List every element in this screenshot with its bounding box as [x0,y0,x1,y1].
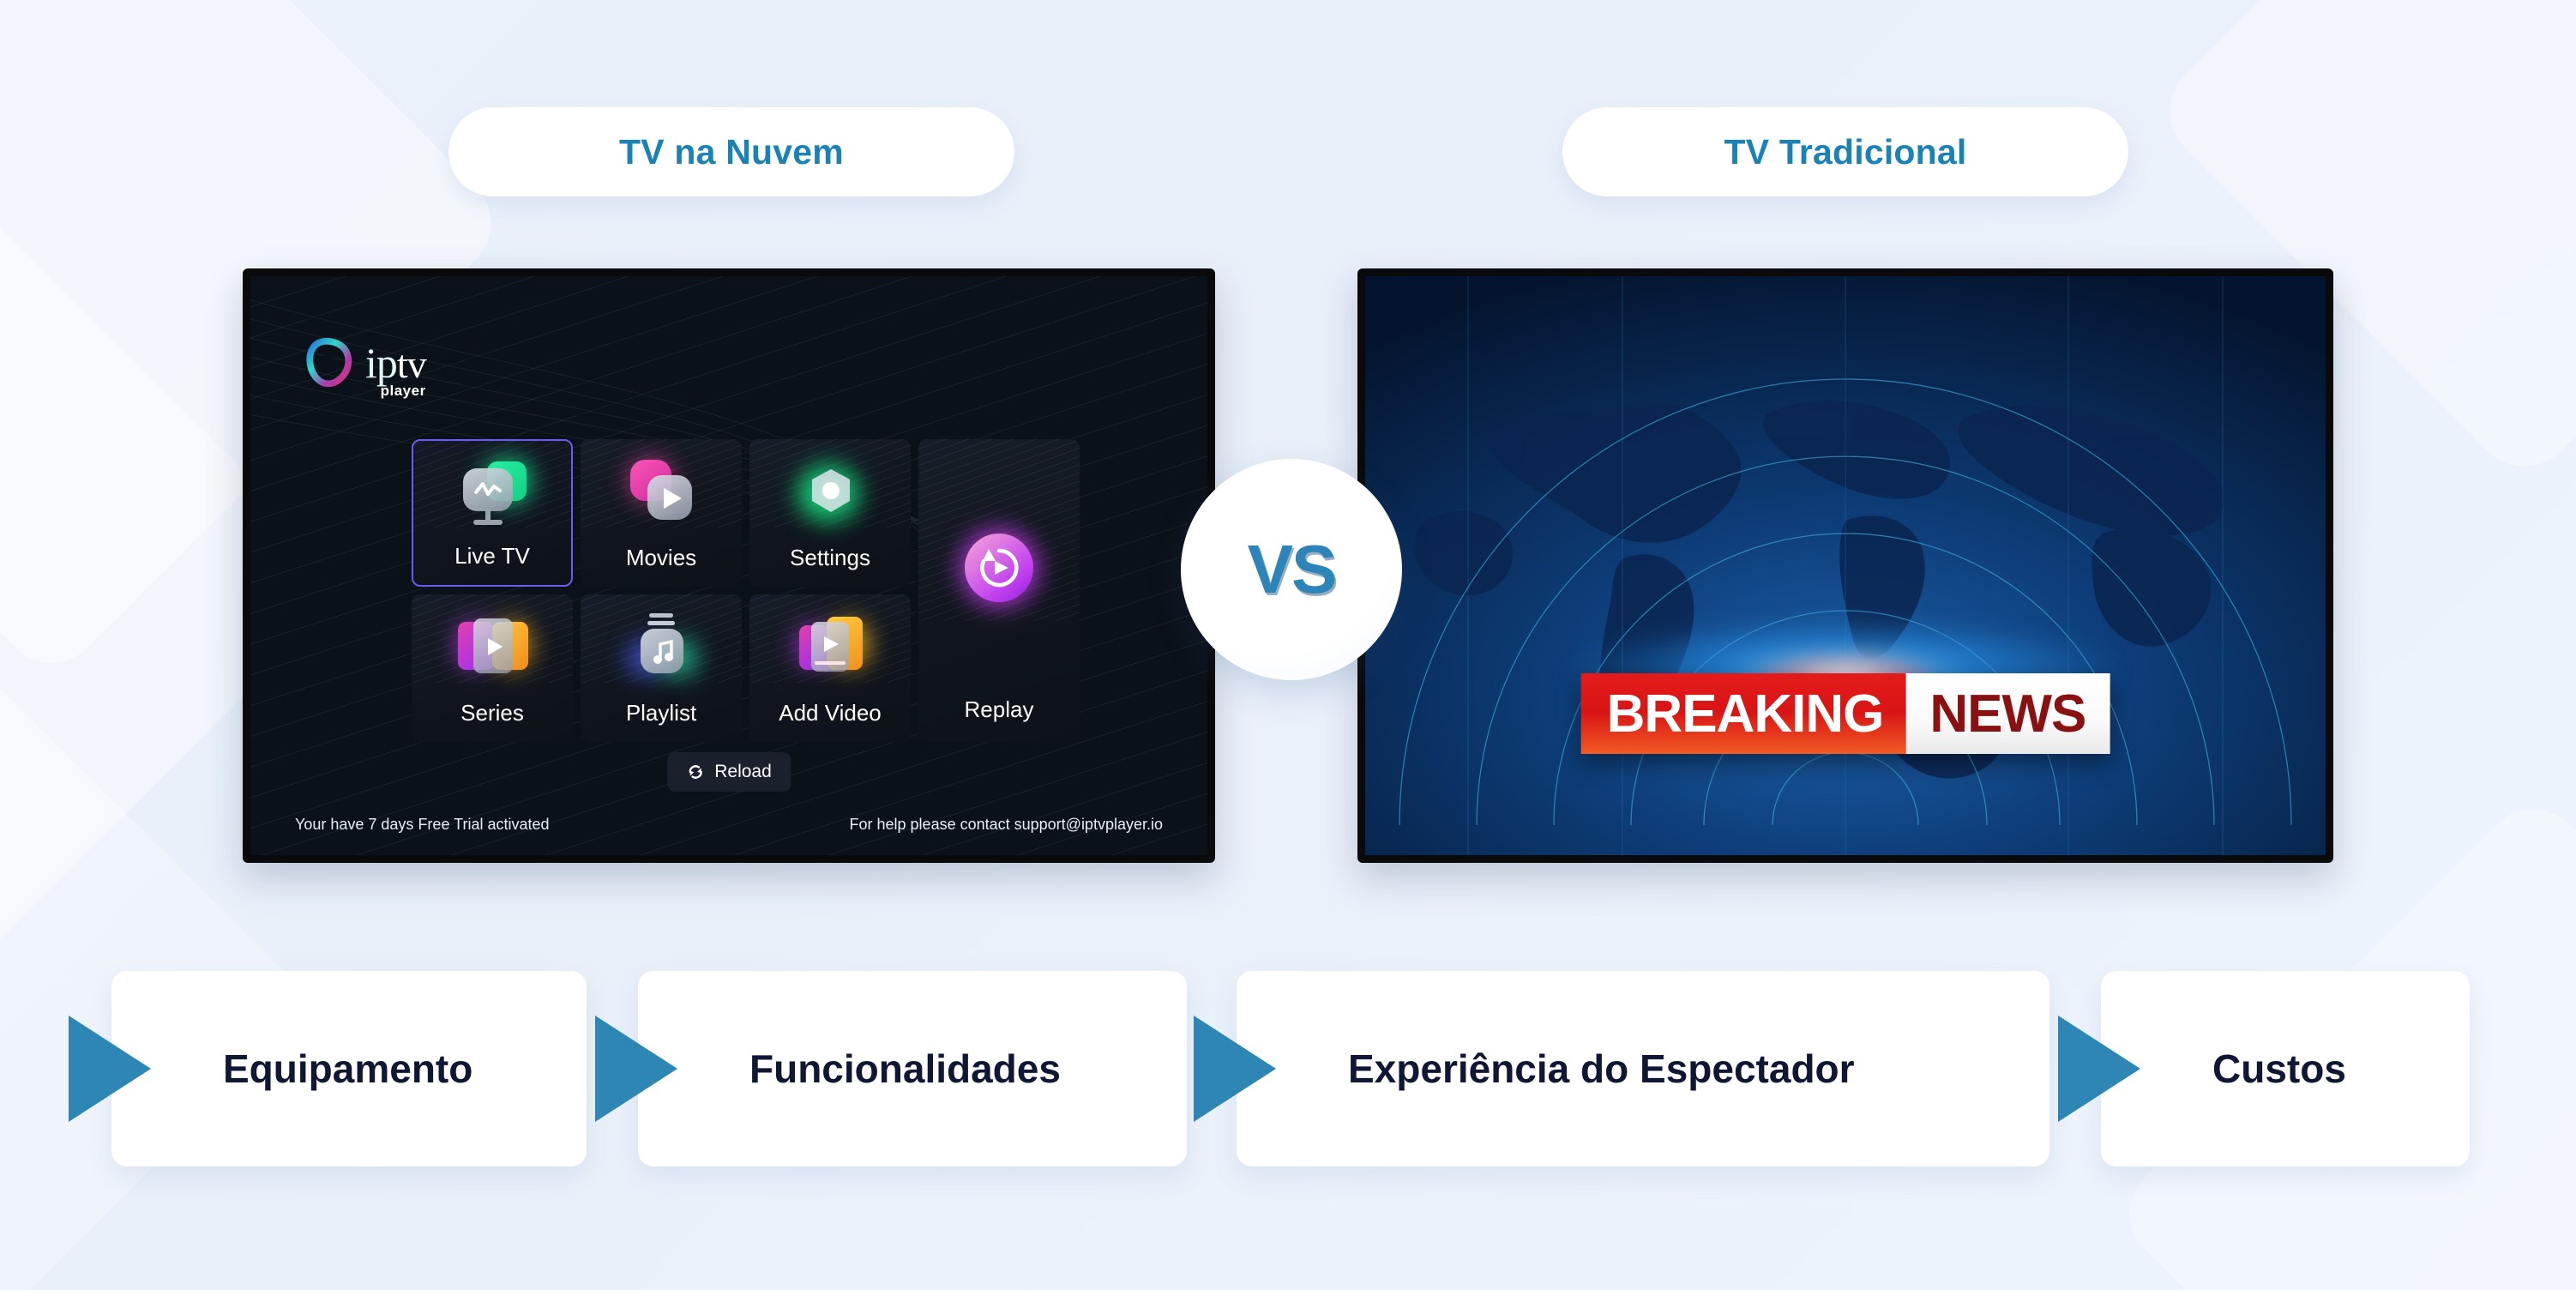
pill-tv-tradicional: TV Tradicional [1562,107,2128,196]
feature-card-label: Experiência do Espectador [1348,1046,1855,1092]
tile-settings[interactable]: Settings [749,439,911,587]
tile-series[interactable]: Series [412,594,573,742]
tile-label: Playlist [626,700,696,726]
add-video-icon [749,594,911,700]
feature-card-equipamento[interactable]: Equipamento [111,971,587,1166]
logo-player-text: player [381,383,426,398]
tile-replay[interactable]: Replay [918,439,1080,742]
banner-breaking-text: BREAKING [1581,673,1906,754]
play-triangle-logo-icon [304,336,357,389]
tile-label: Add Video [779,700,882,726]
replay-icon [918,439,1080,696]
arrow-right-icon [69,1016,151,1122]
feature-card-experiencia-do-espectador[interactable]: Experiência do Espectador [1237,971,2049,1166]
playlist-icon [581,594,742,700]
tile-live-tv[interactable]: Live TV [412,439,573,587]
pill-label: TV na Nuvem [619,132,844,172]
vs-badge: VS [1181,459,1402,680]
iptv-app-screen: iptv player [250,276,1207,855]
tile-movies[interactable]: Movies [581,439,742,587]
feature-card-label: Funcionalidades [749,1046,1061,1092]
tile-label: Replay [965,696,1034,723]
feature-card-label: Custos [2212,1046,2346,1092]
feature-card-custos[interactable]: Custos [2101,971,2470,1166]
comparison-infographic: TV na Nuvem TV Tradicional [0,0,2576,1290]
feature-card-funcionalidades[interactable]: Funcionalidades [638,971,1187,1166]
app-menu-grid: Live TV Movies [412,439,1080,742]
logo-tv-text: tv [397,342,426,386]
tile-label: Movies [626,545,696,571]
tile-add-video[interactable]: Add Video [749,594,911,742]
tile-label: Series [460,700,524,726]
tile-label: Live TV [454,543,530,570]
banner-news-text: NEWS [1905,673,2110,754]
arrow-right-icon [1194,1016,1276,1122]
iptv-logo: iptv player [304,336,426,389]
logo-ip-text: ip [365,339,397,387]
settings-icon [749,439,911,545]
series-icon [412,594,573,700]
tv-frame-cloud: iptv player [243,268,1215,863]
pill-tv-na-nuvem: TV na Nuvem [448,107,1014,196]
support-contact-text: For help please contact support@iptvplay… [850,816,1163,834]
arrow-right-icon [2058,1016,2140,1122]
vs-label: VS [1248,530,1336,609]
reload-label: Reload [714,762,772,782]
breaking-news-banner: BREAKING NEWS [1581,673,2110,754]
live-tv-icon [413,441,571,543]
world-map-background [1365,276,2326,855]
tile-label: Settings [790,545,870,571]
tile-playlist[interactable]: Playlist [581,594,742,742]
reload-icon [686,763,705,781]
trial-status-text: Your have 7 days Free Trial activated [295,816,550,834]
movies-icon [581,439,742,545]
pill-label: TV Tradicional [1724,132,1966,172]
tv-frame-traditional: BREAKING NEWS [1357,268,2333,863]
reload-button[interactable]: Reload [667,752,791,792]
breaking-news-screen: BREAKING NEWS [1365,276,2326,855]
feature-card-row: Equipamento Funcionalidades Experiência … [0,971,2576,1177]
feature-card-label: Equipamento [223,1046,472,1092]
arrow-right-icon [595,1016,677,1122]
logo-wordmark: iptv player [365,341,426,384]
